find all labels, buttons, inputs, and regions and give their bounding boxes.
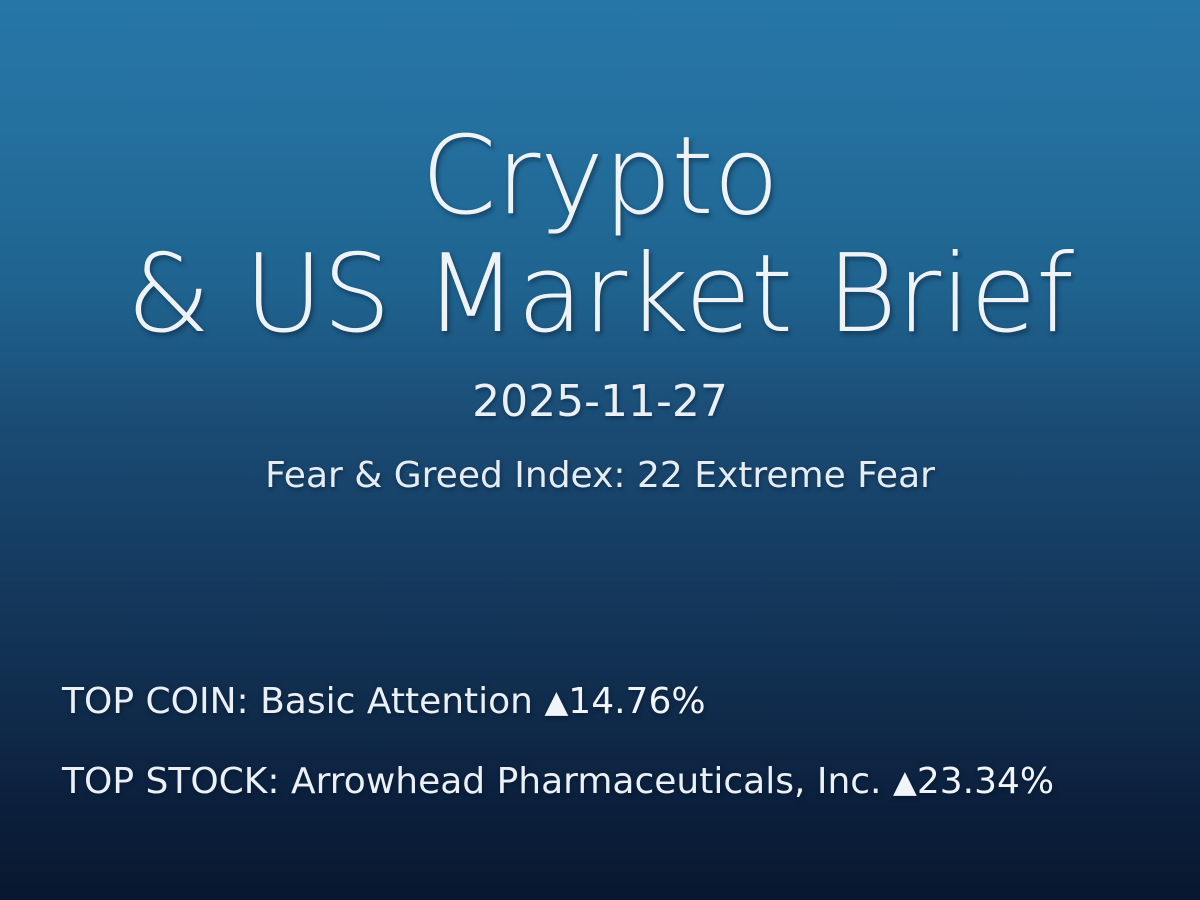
top-coin-row: TOP COIN: Basic Attention ▲14.76%	[62, 678, 1180, 726]
market-brief-slide: Crypto & US Market Brief 2025-11-27 Fear…	[0, 0, 1200, 900]
arrow-up-icon: ▲	[893, 767, 917, 798]
top-stock-label: TOP STOCK:	[62, 761, 280, 802]
top-coin-change: 14.76%	[568, 681, 705, 722]
page-title: Crypto & US Market Brief	[0, 118, 1200, 354]
arrow-up-icon: ▲	[544, 687, 568, 718]
top-coin-name: Basic Attention	[260, 681, 533, 722]
hero-block: Crypto & US Market Brief 2025-11-27 Fear…	[0, 118, 1200, 498]
top-stock-change: 23.34%	[917, 761, 1054, 802]
top-stock-row: TOP STOCK: Arrowhead Pharmaceuticals, In…	[62, 758, 1180, 806]
top-stock-name: Arrowhead Pharmaceuticals, Inc.	[291, 761, 882, 802]
highlights-block: TOP COIN: Basic Attention ▲14.76% TOP ST…	[62, 678, 1180, 806]
report-date: 2025-11-27	[0, 376, 1200, 428]
top-coin-label: TOP COIN:	[62, 681, 249, 722]
fear-greed-index: Fear & Greed Index: 22 Extreme Fear	[0, 454, 1200, 498]
